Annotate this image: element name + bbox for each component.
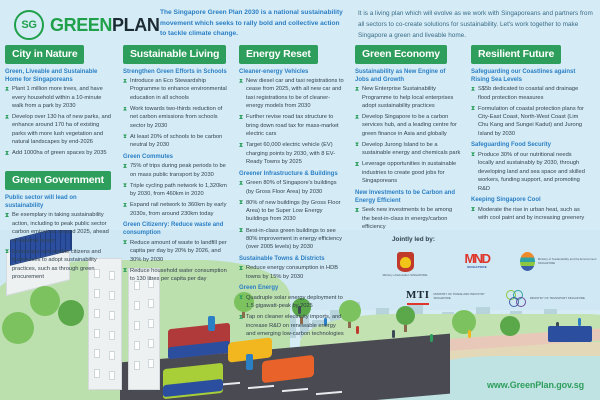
- points-green-energy: Quadruple solar energy deployment to 1.5…: [239, 294, 345, 339]
- point-item: Further revise road tax structure to bri…: [239, 113, 345, 138]
- point-item: Moderate the rise in urban heat, such as…: [471, 206, 587, 223]
- agency-caption: Ministry of Education SINGAPORE: [383, 274, 428, 278]
- subheading-green-commutes: Green Commutes: [123, 153, 229, 161]
- brand-logo: SG GREENPLAN: [14, 10, 159, 40]
- intro-paragraph-left: The Singapore Green Plan 2030 is a natio…: [160, 8, 345, 40]
- agency-caption: Ministry of Sustainability and the Envir…: [538, 258, 598, 266]
- point-item: Be exemplary in taking sustainability ac…: [5, 211, 113, 245]
- subheading-cleaner-energy-vehicles: Cleaner-energy Vehicles: [239, 68, 345, 76]
- points-cleaner-energy-vehicles: New diesel car and taxi registrations to…: [239, 77, 345, 167]
- point-item: Green 80% of Singapore's buildings (by G…: [239, 179, 345, 196]
- agency-caption: MINISTRY OF TRADE AND INDUSTRY SINGAPORE: [434, 293, 493, 301]
- point-item: Target 60,000 electric vehicle (EV) char…: [239, 141, 345, 166]
- agency-logo-moe: Ministry of Education SINGAPORE: [376, 252, 434, 278]
- column-city-in-nature: City in Nature Green, Liveable and Susta…: [0, 44, 118, 341]
- points-greener-infrastructure: Green 80% of Singapore's buildings (by G…: [239, 179, 345, 252]
- points-safeguarding-coastlines: S$5b dedicated to coastal and drainage f…: [471, 85, 587, 138]
- column-sustainable-living: Sustainable Living Strengthen Green Effo…: [118, 44, 234, 341]
- agency-caption: MINISTRY OF TRANSPORT SINGAPORE: [530, 297, 585, 301]
- point-item: Develop over 130 ha of new parks, and en…: [5, 113, 113, 147]
- points-food-security: Produce 30% of our nutritional needs loc…: [471, 151, 587, 193]
- pillar-title-city-in-nature: City in Nature: [5, 45, 84, 64]
- agency-logo-mse: Ministry of Sustainability and the Envir…: [520, 252, 598, 271]
- points-sustainability-new-engine: New Enterprise Sustainability Programme …: [355, 85, 461, 186]
- subheading-safeguarding-coastlines: Safeguarding our Coastlines against Risi…: [471, 68, 587, 84]
- point-item: Encourage and enable citizens and busine…: [5, 248, 113, 282]
- point-item: Quadruple solar energy deployment to 1.5…: [239, 294, 345, 311]
- jointly-led-by-label: Jointly led by:: [392, 236, 435, 243]
- point-item: Reduce energy consumption in HDB towns b…: [239, 264, 345, 281]
- mot-rings-icon: [506, 290, 526, 308]
- subheading-new-investments: New Investments to be Carbon and Energy …: [355, 189, 461, 205]
- agency-logo-mti: MTI MINISTRY OF TRADE AND INDUSTRY SINGA…: [406, 290, 492, 305]
- brand-wordmark: GREENPLAN: [50, 15, 159, 36]
- point-item: Leverage opportunities in sustainable in…: [355, 160, 461, 185]
- pillar-title-energy-reset: Energy Reset: [239, 45, 318, 64]
- pillar-title-green-government: Green Government: [5, 171, 111, 190]
- point-item: New Enterprise Sustainability Programme …: [355, 85, 461, 110]
- points-green-commutes: 75% of trips during peak periods to be o…: [123, 162, 229, 218]
- sg-badge-icon: SG: [14, 10, 44, 40]
- point-item: Work towards two-thirds reduction of net…: [123, 105, 229, 130]
- point-item: Formulation of coastal protection plans …: [471, 105, 587, 139]
- mti-wordmark: MTI: [406, 290, 430, 301]
- point-item: Triple cycling path network to 1,320km b…: [123, 182, 229, 199]
- subheading-public-sector-lead: Public sector will lead on sustainabilit…: [5, 194, 113, 210]
- point-item: S$5b dedicated to coastal and drainage f…: [471, 85, 587, 102]
- agency-logo-mot: MINISTRY OF TRANSPORT SINGAPORE: [506, 290, 592, 308]
- points-green-government: Be exemplary in taking sustainability ac…: [5, 211, 113, 281]
- point-item: At least 20% of schools to be carbon neu…: [123, 133, 229, 150]
- pillar-title-sustainable-living: Sustainable Living: [123, 45, 226, 64]
- point-item: Reduce household water consumption to 13…: [123, 267, 229, 284]
- point-item: Reduce amount of waste to landfill per c…: [123, 239, 229, 264]
- points-green-efforts-schools: Introduce an Eco Stewardship Programme t…: [123, 77, 229, 150]
- mti-accent-bar: [407, 303, 429, 305]
- mnd-wordmark: MND: [464, 252, 489, 265]
- moe-crest-icon: [397, 252, 414, 272]
- point-item: 80% of new buildings (by Gross Floor Are…: [239, 199, 345, 224]
- point-item: Seek new investments to be among the bes…: [355, 206, 461, 231]
- subheading-greener-infrastructure: Greener Infrastructure & Buildings: [239, 170, 345, 178]
- subheading-green-energy: Green Energy: [239, 284, 345, 292]
- points-new-investments: Seek new investments to be among the bes…: [355, 206, 461, 231]
- mse-globe-icon: [520, 252, 535, 271]
- point-item: Plant 1 million more trees, and have eve…: [5, 85, 113, 110]
- point-item: Produce 30% of our nutritional needs loc…: [471, 151, 587, 193]
- subheading-green-citizenry: Green Citizenry: Reduce waste and consum…: [123, 221, 229, 237]
- pillar-title-resilient-future: Resilient Future: [471, 45, 561, 64]
- subheading-green-efforts-schools: Strengthen Green Efforts in Schools: [123, 68, 229, 76]
- points-keeping-singapore-cool: Moderate the rise in urban heat, such as…: [471, 206, 587, 223]
- point-item: Introduce an Eco Stewardship Programme t…: [123, 77, 229, 102]
- points-city-in-nature: Plant 1 million more trees, and have eve…: [5, 85, 113, 158]
- ev-charging-point: [246, 354, 253, 370]
- agency-logo-row-1: Ministry of Education SINGAPORE MND SING…: [376, 252, 598, 278]
- brand-word-plan: PLAN: [112, 15, 159, 35]
- column-energy-reset: Energy Reset Cleaner-energy Vehicles New…: [234, 44, 350, 341]
- point-item: Develop Singapore to be a carbon service…: [355, 113, 461, 138]
- subheading-sustainable-towns: Sustainable Towns & Districts: [239, 255, 345, 263]
- agency-caption: SINGAPORE: [467, 265, 487, 269]
- green-plan-infographic: SG GREENPLAN The Singapore Green Plan 20…: [0, 0, 600, 400]
- website-url[interactable]: www.GreenPlan.gov.sg: [487, 380, 584, 390]
- subheading-green-liveable-home: Green, Liveable and Sustainable Home for…: [5, 68, 113, 84]
- points-green-citizenry: Reduce amount of waste to landfill per c…: [123, 239, 229, 284]
- intro-paragraph-right: It is a living plan which will evolve as…: [358, 8, 594, 41]
- points-sustainable-towns: Reduce energy consumption in HDB towns b…: [239, 264, 345, 281]
- pillar-title-green-economy: Green Economy: [355, 45, 447, 64]
- point-item: Tap on cleaner electricity imports, and …: [239, 313, 345, 338]
- point-item: Best-in-class green buildings to see 80%…: [239, 227, 345, 252]
- point-item: Add 1000ha of green spaces by 2035: [5, 149, 113, 157]
- point-item: 75% of trips during peak periods to be o…: [123, 162, 229, 179]
- subheading-keeping-singapore-cool: Keeping Singapore Cool: [471, 196, 587, 204]
- agency-logo-row-2: MTI MINISTRY OF TRADE AND INDUSTRY SINGA…: [406, 290, 592, 308]
- subheading-safeguarding-food-security: Safeguarding Food Security: [471, 141, 587, 149]
- point-item: Develop Jurong Island to be a sustainabl…: [355, 141, 461, 158]
- point-item: New diesel car and taxi registrations to…: [239, 77, 345, 111]
- subheading-sustainability-new-engine: Sustainability as New Engine of Jobs and…: [355, 68, 461, 84]
- point-item: Expand rail network to 360km by early 20…: [123, 201, 229, 218]
- brand-word-green: GREEN: [50, 15, 112, 35]
- agency-logo-mnd: MND SINGAPORE: [448, 252, 506, 269]
